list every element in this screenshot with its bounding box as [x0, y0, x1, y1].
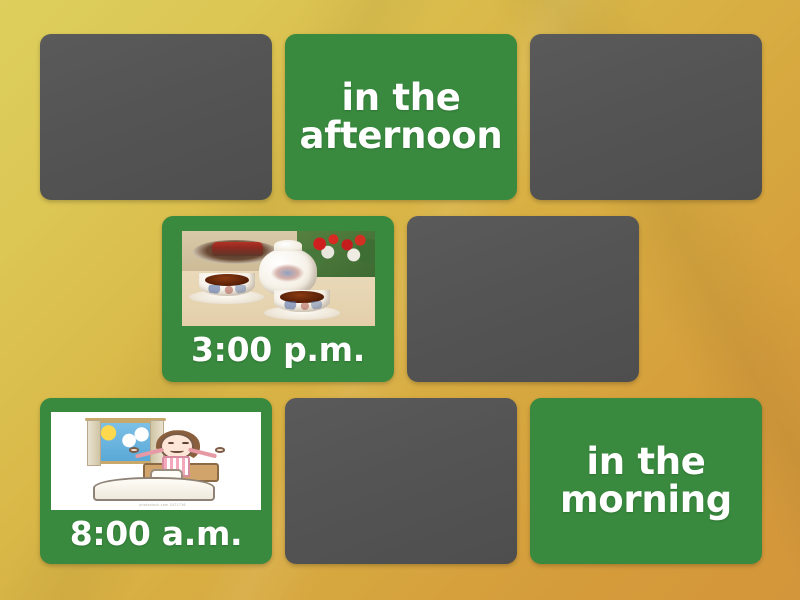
card-label-line1: in the [586, 443, 705, 481]
tea-set-image [182, 231, 375, 326]
card-label-line2: morning [560, 481, 732, 519]
card-in-the-morning[interactable]: in the morning [530, 398, 762, 564]
card-8-00-am[interactable]: photostock.com 2471736 8:00 a.m. [40, 398, 272, 564]
card-face-down-7[interactable] [285, 398, 517, 564]
image-watermark: photostock.com 2471736 [139, 503, 185, 507]
card-label-time: 8:00 a.m. [70, 517, 243, 551]
card-label-line2: afternoon [300, 117, 503, 155]
card-in-the-afternoon[interactable]: in the afternoon [285, 34, 517, 200]
card-face-down-5[interactable] [407, 216, 639, 382]
card-face-down-3[interactable] [530, 34, 762, 200]
card-label-time: 3:00 p.m. [191, 333, 365, 367]
card-face-down-1[interactable] [40, 34, 272, 200]
card-label-line1: in the [341, 79, 460, 117]
girl-waking-up-image: photostock.com 2471736 [51, 412, 261, 510]
matching-pairs-board: in the afternoon 3:00 p.m. [0, 0, 800, 600]
card-3-00-pm[interactable]: 3:00 p.m. [162, 216, 394, 382]
